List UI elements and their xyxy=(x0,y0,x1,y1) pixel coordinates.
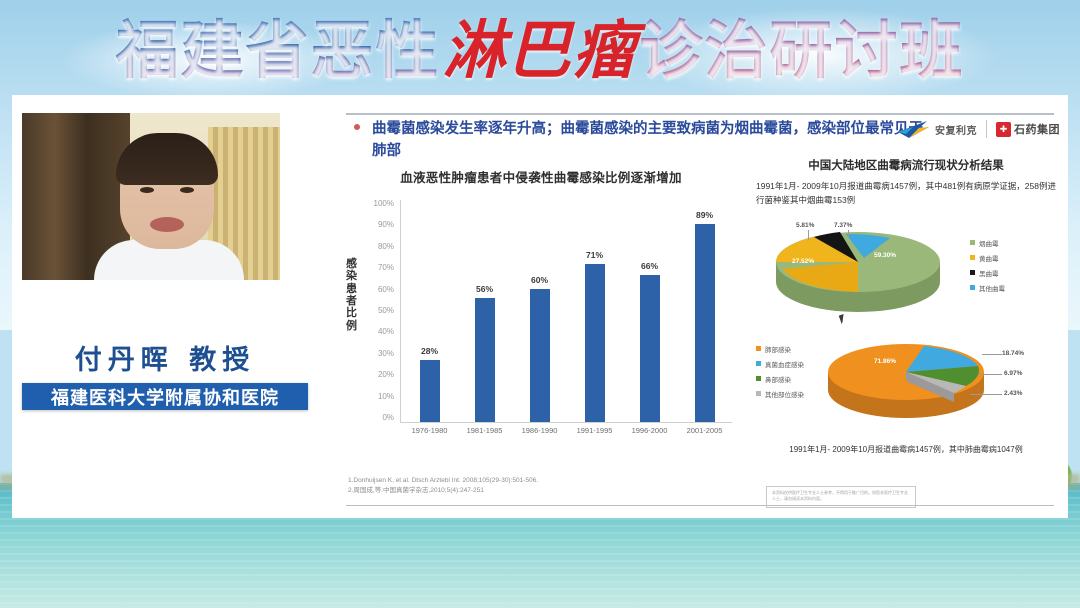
bar-chart-bar xyxy=(585,264,605,422)
bar-chart-y-tick: 60% xyxy=(360,286,394,294)
logo-divider xyxy=(986,120,987,138)
bar-chart-bar-group: 56% xyxy=(458,200,512,422)
bar-chart-title: 血液恶性肿瘤患者中侵袭性曲霉感染比例逐渐增加 xyxy=(346,167,736,186)
legend-swatch-icon xyxy=(756,391,761,396)
brand-logo: 安复利克 xyxy=(897,119,977,139)
bar-chart-bar xyxy=(420,360,440,422)
pie-value-label: 7.37% xyxy=(834,222,852,229)
legend-label: 烟曲霉 xyxy=(979,238,999,248)
legend-swatch-icon xyxy=(756,376,761,381)
bar-chart-bar xyxy=(475,298,495,422)
legend-item: 烟曲霉 xyxy=(970,238,1005,248)
title-segment-1: 福建省恶性 xyxy=(116,13,441,87)
presenter-mouth xyxy=(150,217,184,232)
bar-chart-bar-group: 60% xyxy=(513,200,567,422)
bar-chart-bar xyxy=(530,289,550,422)
legend-label: 黑曲霉 xyxy=(979,268,999,278)
presenter-eye xyxy=(140,187,154,193)
pie-chart-sites-graphic xyxy=(816,338,1006,430)
legend-label: 肺部感染 xyxy=(765,344,791,354)
leader-line xyxy=(970,394,1002,395)
legend-swatch-icon xyxy=(970,270,975,275)
right-analysis-panel: 中国大陆地区曲霉病流行现状分析结果 1991年1月- 2009年10月报道曲霉病… xyxy=(756,157,1056,455)
legend-swatch-icon xyxy=(756,361,761,366)
bar-chart-plot-area: 感染患者比例 100%90%80%70%60%50%40%30%20%10%0%… xyxy=(346,200,736,456)
cspc-mark-icon: ✚ xyxy=(996,122,1011,137)
bar-chart-bar-group: 89% xyxy=(678,200,732,422)
bar-chart-y-tick: 20% xyxy=(360,371,394,379)
title-segment-3: 诊治研讨班 xyxy=(640,13,965,87)
legend-swatch-icon xyxy=(970,285,975,290)
pie-value-label: 6.97% xyxy=(1004,370,1022,377)
bar-chart-value-label: 56% xyxy=(458,284,512,294)
bar-chart-y-tick: 50% xyxy=(360,307,394,315)
bar-chart-bar-group: 71% xyxy=(568,200,622,422)
sponsor-logos: 安复利克 ✚ 石药集团 xyxy=(897,119,1060,139)
bar-chart-bars: 28%56%60%71%66%89% xyxy=(402,200,732,422)
bar-chart-bar xyxy=(695,224,715,422)
legend-label: 其他曲霉 xyxy=(979,283,1005,293)
bar-chart-bar-group: 66% xyxy=(623,200,677,422)
presenter-organization: 福建医科大学附属协和医院 xyxy=(22,383,308,410)
bar-chart-x-tick: 1996-2000 xyxy=(623,426,677,435)
footnote-item: 2.周国成,等.中国真菌学杂志,2010;5(4):247-251 xyxy=(348,486,688,496)
pie-chart-sites-legend: 肺部感染真菌血症感染鼻部感染其他部位感染 xyxy=(756,344,804,399)
pie-value-label: 59.30% xyxy=(874,252,896,259)
bar-chart-y-tick: 40% xyxy=(360,328,394,336)
swoosh-icon xyxy=(897,119,931,139)
pie-chart-species: 59.30% 27.52% 5.81% 7.37% 烟曲霉黄曲霉黑曲霉其他曲霉 xyxy=(756,216,1056,326)
bar-chart-x-tick: 1986-1990 xyxy=(513,426,567,435)
pie-value-label: 2.43% xyxy=(1004,390,1022,397)
pie-value-label: 18.74% xyxy=(1002,350,1024,357)
presenter-name: 付丹晖 教授 xyxy=(22,338,308,377)
footnote-item: 1.Donhuijsen K, et al. Dtsch Arztebl Int… xyxy=(348,476,688,486)
bar-chart-panel: 血液恶性肿瘤患者中侵袭性曲霉感染比例逐渐增加 感染患者比例 100%90%80%… xyxy=(346,167,736,456)
slide-footnotes: 1.Donhuijsen K, et al. Dtsch Arztebl Int… xyxy=(348,476,688,496)
legend-item: 肺部感染 xyxy=(756,344,804,354)
legend-item: 黑曲霉 xyxy=(970,268,1005,278)
bar-chart-bar-group: 28% xyxy=(403,200,457,422)
bar-chart-y-tick: 0% xyxy=(360,414,394,422)
company-name: 石药集团 xyxy=(1014,121,1060,137)
pie-value-label: 27.52% xyxy=(792,258,814,265)
bar-chart-x-tick: 2001-2005 xyxy=(678,426,732,435)
slide-top-rule xyxy=(346,113,1054,115)
pie-value-label: 5.81% xyxy=(796,222,814,229)
bar-chart-y-tick: 100% xyxy=(360,200,394,208)
bar-chart-y-tick: 90% xyxy=(360,221,394,229)
bar-chart-x-axis-line xyxy=(400,422,732,423)
legend-label: 真菌血症感染 xyxy=(765,359,804,369)
slide-bottom-rule xyxy=(346,505,1054,506)
pie-chart-sites: 71.86% 18.74% 6.97% 2.43% 肺部感染真菌血症感染鼻部感染… xyxy=(756,332,1056,436)
bar-chart-value-label: 89% xyxy=(678,210,732,220)
event-title-banner: 福建省恶性淋巴瘤诊治研讨班 xyxy=(0,4,1080,96)
bar-chart-x-ticks: 1976-19801981-19851986-19901991-19951996… xyxy=(402,426,732,435)
legend-swatch-icon xyxy=(970,255,975,260)
leader-line xyxy=(848,230,849,238)
right-panel-caption: 1991年1月- 2009年10月报道曲霉病1457例，其中肺曲霉病1047例 xyxy=(756,444,1056,455)
bar-chart-bar xyxy=(640,275,660,422)
presenter-video-feed[interactable] xyxy=(22,113,280,280)
legend-item: 鼻部感染 xyxy=(756,374,804,384)
slide-headline: 曲霉菌感染发生率逐年升高；曲霉菌感染的主要致病菌为烟曲霉菌，感染部位最常见于肺部 xyxy=(372,119,932,163)
leader-line xyxy=(982,354,1002,355)
legend-item: 其他部位感染 xyxy=(756,389,804,399)
title-segment-highlight: 淋巴瘤 xyxy=(441,13,640,87)
bullet-icon xyxy=(354,124,360,130)
legend-label: 鼻部感染 xyxy=(765,374,791,384)
legend-label: 其他部位感染 xyxy=(765,389,804,399)
legend-item: 黄曲霉 xyxy=(970,253,1005,263)
pie-value-label: 71.86% xyxy=(874,358,896,365)
legend-item: 其他曲霉 xyxy=(970,283,1005,293)
legend-label: 黄曲霉 xyxy=(979,253,999,263)
bar-chart-y-ticks: 100%90%80%70%60%50%40%30%20%10%0% xyxy=(360,200,394,422)
pie-chart-species-graphic xyxy=(762,220,968,320)
bar-chart-y-axis-label: 感染患者比例 xyxy=(344,258,360,332)
legend-item: 真菌血症感染 xyxy=(756,359,804,369)
presenter-eye xyxy=(180,187,194,193)
bar-chart-y-tick: 80% xyxy=(360,243,394,251)
right-panel-body: 1991年1月- 2009年10月报道曲霉病1457例，其中481例有病原学证据… xyxy=(756,180,1056,208)
bar-chart-x-tick: 1976-1980 xyxy=(403,426,457,435)
presenter-nameplate: 付丹晖 教授 福建医科大学附属协和医院 xyxy=(22,338,308,410)
page-title: 福建省恶性淋巴瘤诊治研讨班 xyxy=(116,19,965,82)
bar-chart-x-tick: 1991-1995 xyxy=(568,426,622,435)
bar-chart-value-label: 60% xyxy=(513,275,567,285)
pie-chart-species-legend: 烟曲霉黄曲霉黑曲霉其他曲霉 xyxy=(970,238,1005,293)
bar-chart-y-tick: 30% xyxy=(360,350,394,358)
right-panel-title: 中国大陆地区曲霉病流行现状分析结果 xyxy=(756,157,1056,173)
legend-swatch-icon xyxy=(970,240,975,245)
bar-chart-value-label: 28% xyxy=(403,346,457,356)
bar-chart-x-tick: 1981-1985 xyxy=(458,426,512,435)
bar-chart-y-axis-line xyxy=(400,200,401,422)
legend-swatch-icon xyxy=(756,346,761,351)
leader-line xyxy=(808,230,809,240)
bar-chart-y-tick: 70% xyxy=(360,264,394,272)
bar-chart-y-tick: 10% xyxy=(360,393,394,401)
bar-chart-value-label: 66% xyxy=(623,261,677,271)
leader-line xyxy=(978,374,1002,375)
bar-chart-value-label: 71% xyxy=(568,250,622,260)
company-logo: ✚ 石药集团 xyxy=(996,121,1060,137)
brand-name: 安复利克 xyxy=(935,122,977,137)
